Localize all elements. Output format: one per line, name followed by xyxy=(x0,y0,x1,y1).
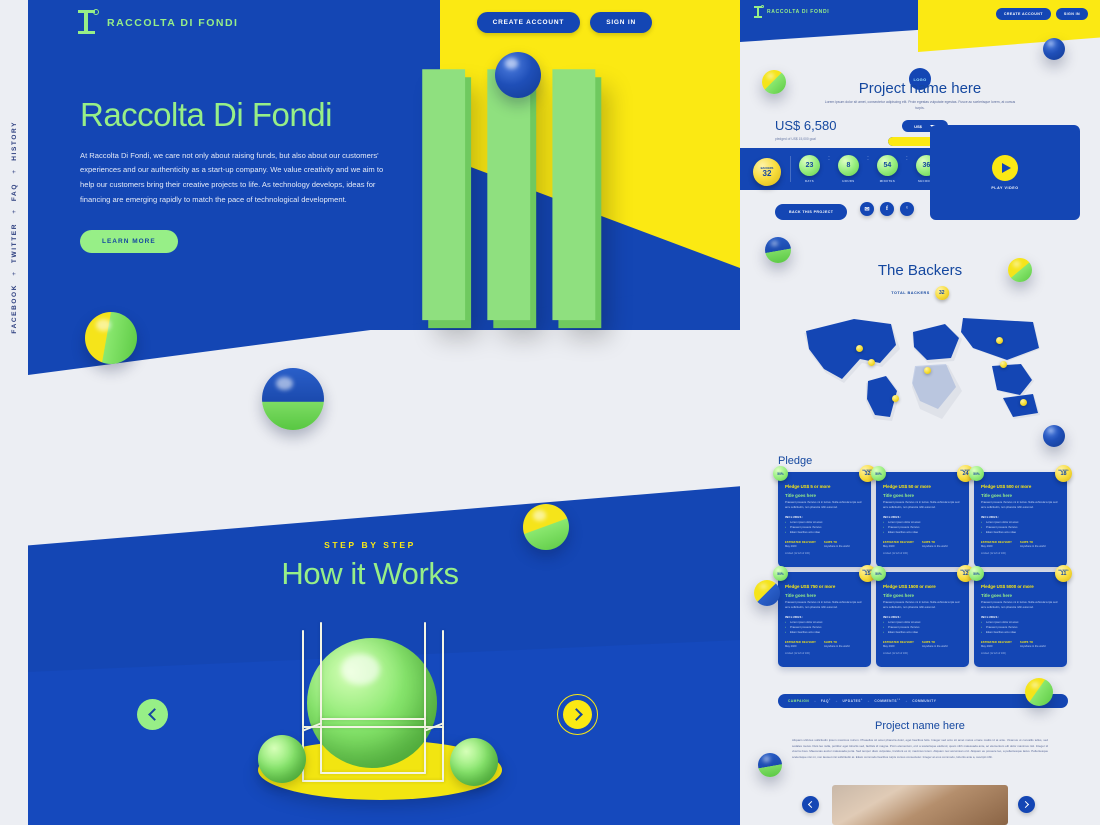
funding-progress-fill xyxy=(888,137,936,146)
social-rail: HISTORY + FAQ + TWITTER + FACEBOOK xyxy=(0,0,28,825)
pledge-delivery-label: ESTIMATED DELIVERY xyxy=(981,641,1012,644)
pledge-title: Title goes here xyxy=(883,593,962,598)
pledge-discount-badge: 50% xyxy=(969,566,984,581)
pledge-includes-label: INCLUDES: xyxy=(981,615,1060,619)
pledge-card[interactable]: 50% BACKERS 11 Pledge US$ 5000 or more T… xyxy=(974,572,1067,667)
chevron-left-icon xyxy=(148,708,161,721)
carousel-prev-button[interactable] xyxy=(137,699,168,730)
pledge-limited-note: Limited (12 left of 100) xyxy=(981,552,1060,555)
pledge-ships-value: Anywhere in the world xyxy=(1020,645,1046,648)
footer-next-button[interactable] xyxy=(1018,796,1035,813)
pledge-ships-label: SHIPS TO xyxy=(922,541,948,544)
pledge-discount-badge: 50% xyxy=(871,566,886,581)
rp-site-logo[interactable]: RACCOLTA DI FONDI xyxy=(754,5,829,19)
rp-header-nav: CREATE ACCOUNT SIGN IN xyxy=(996,8,1088,20)
pledge-bullet: Etiam faucibus arcu vitae xyxy=(883,531,962,536)
pledge-amount: Pledge US$ 5 or more xyxy=(785,484,864,489)
countdown-colon-1: : xyxy=(828,155,830,162)
footer-prev-button[interactable] xyxy=(802,796,819,813)
pledge-limited-note: Limited (12 left of 100) xyxy=(785,652,864,655)
chevron-left-icon xyxy=(808,801,815,808)
map-pin xyxy=(1000,361,1007,368)
pledge-discount-badge: 50% xyxy=(871,466,886,481)
pledge-delivery-label: ESTIMATED DELIVERY xyxy=(883,641,914,644)
pledge-ships-label: SHIPS TO xyxy=(824,641,850,644)
pledge-ships-value: Anywhere in the world xyxy=(824,645,850,648)
pledge-bullet: Etiam faucibus arcu vitae xyxy=(981,531,1060,536)
pledge-delivery-value: May 2020 xyxy=(785,645,816,648)
countdown-colon-3: : xyxy=(906,155,908,162)
pledge-backers-badge: BACKERS 11 xyxy=(1055,565,1072,582)
backers-badge: BACKERS 32 xyxy=(753,158,781,186)
pledge-title: Title goes here xyxy=(883,493,962,498)
map-pin xyxy=(868,359,875,366)
rp-decor-sphere-3 xyxy=(765,237,791,263)
rp-decor-sphere-5 xyxy=(1043,425,1065,447)
rail-separator-1: + xyxy=(11,167,18,177)
site-logo[interactable]: RACCOLTA DI FONDI xyxy=(78,8,238,38)
footer-nav-separator: + xyxy=(868,699,870,703)
pledge-amount: Pledge US$ 750 or more xyxy=(785,584,864,589)
rail-item-twitter[interactable]: TWITTER xyxy=(11,217,18,269)
countdown-hours-label: HOURS xyxy=(832,179,865,183)
pledge-ships-value: Anywhere in the world xyxy=(922,545,948,548)
pledge-delivery-label: ESTIMATED DELIVERY xyxy=(785,641,816,644)
countdown-hours-value: 8 xyxy=(838,155,859,176)
pledge-section-heading: Pledge xyxy=(778,455,812,467)
landing-page-mockup: Ⅲ RACCOLTA DI FONDI CREATE ACCOUNT SIGN … xyxy=(0,0,1100,825)
pledge-delivery-value: May 2020 xyxy=(981,545,1012,548)
pledge-backers-value: 32 xyxy=(864,472,870,478)
countdown-minutes: 54 MINUTES xyxy=(871,155,904,183)
pledge-title: Title goes here xyxy=(981,493,1060,498)
decor-sphere-blue-top xyxy=(495,52,541,98)
header-nav-buttons: CREATE ACCOUNT SIGN IN xyxy=(477,12,652,33)
how-it-works-section: STEP BY STEP How it Works xyxy=(0,540,740,592)
share-socials: ✉ f ᵗ xyxy=(860,202,914,216)
rp-decor-sphere-1 xyxy=(762,70,786,94)
project-video-player[interactable]: PLAY VIDEO xyxy=(930,125,1080,220)
pledge-includes-label: INCLUDES: xyxy=(883,515,962,519)
pledge-discount-badge: 50% xyxy=(773,566,788,581)
rail-item-history[interactable]: HISTORY xyxy=(11,115,18,167)
pledge-bullet: Etiam faucibus arcu vitae xyxy=(883,631,962,636)
countdown-days-label: DAYS xyxy=(793,179,826,183)
how-it-works-title: How it Works xyxy=(0,556,740,592)
pledge-limited-note: Limited (12 left of 100) xyxy=(981,652,1060,655)
pledge-ships-label: SHIPS TO xyxy=(1020,541,1046,544)
rp-decor-sphere-6 xyxy=(754,580,780,606)
footer-nav-item-comments[interactable]: COMMENTS18 xyxy=(874,699,900,703)
play-icon xyxy=(1002,163,1011,173)
footer-nav-separator: + xyxy=(836,699,838,703)
rp-decor-sphere-8 xyxy=(758,753,782,777)
world-map-icon xyxy=(796,305,1046,425)
pledge-meta-row: ESTIMATED DELIVERY May 2020 SHIPS TO Any… xyxy=(785,541,864,548)
pledge-description: Praesent posuere rhoncus mi in luctus. N… xyxy=(883,601,962,610)
backers-section-title: The Backers xyxy=(740,262,1100,279)
pledge-limited-note: Limited (12 left of 100) xyxy=(883,552,962,555)
facebook-icon[interactable]: f xyxy=(880,202,894,216)
footer-nav-count: 2 xyxy=(829,699,831,701)
pledge-backers-value: 11 xyxy=(1061,572,1067,578)
decor-sphere-green-yellow xyxy=(85,312,137,364)
pledge-amount: Pledge US$ 50 or more xyxy=(883,484,962,489)
pledge-discount-badge: 50% xyxy=(773,466,788,481)
rp-decor-sphere-7 xyxy=(1025,678,1053,706)
pledge-ships-value: Anywhere in the world xyxy=(922,645,948,648)
pledge-description: Praesent posuere rhoncus mi in luctus. N… xyxy=(981,601,1060,610)
pledge-delivery-value: May 2020 xyxy=(785,545,816,548)
total-backers-label: TOTAL BACKERS xyxy=(891,291,930,295)
backers-world-map xyxy=(796,305,1046,425)
scene-wireframe-cage xyxy=(302,630,444,782)
hero-content: Raccolta Di Fondi At Raccolta Di Fondi, … xyxy=(80,98,390,253)
pledge-includes-label: INCLUDES: xyxy=(785,615,864,619)
pledge-ships-label: SHIPS TO xyxy=(922,641,948,644)
column-logo-icon xyxy=(754,5,764,19)
currency-value: US$ xyxy=(914,124,922,129)
rp-decor-sphere-4 xyxy=(1008,258,1032,282)
pledge-delivery-value: May 2020 xyxy=(883,645,914,648)
rp-logo-wordmark: RACCOLTA DI FONDI xyxy=(767,9,829,15)
pledge-amount: Pledge US$ 500 or more xyxy=(981,484,1060,489)
countdown-minutes-label: MINUTES xyxy=(871,179,904,183)
play-video-label: PLAY VIDEO xyxy=(991,186,1018,190)
learn-more-button[interactable]: LEARN MORE xyxy=(80,230,178,253)
pledge-title: Title goes here xyxy=(785,593,864,598)
pledge-ships-value: Anywhere in the world xyxy=(1020,545,1046,548)
pledge-delivery-label: ESTIMATED DELIVERY xyxy=(981,541,1012,544)
rail-item-faq[interactable]: FAQ xyxy=(11,177,18,207)
pledge-card[interactable]: 50% BACKERS 18 Pledge US$ 500 or more Ti… xyxy=(974,472,1067,567)
pledge-meta-row: ESTIMATED DELIVERY May 2020 SHIPS TO Any… xyxy=(981,541,1060,548)
pledged-goal-text: pledged of US$ 15,000 goal xyxy=(775,137,816,141)
footer-nav-item-updates[interactable]: UPDATES4 xyxy=(842,699,862,703)
twitter-icon[interactable]: ᵗ xyxy=(900,202,914,216)
pledge-meta-row: ESTIMATED DELIVERY May 2020 SHIPS TO Any… xyxy=(785,641,864,648)
rp-decor-sphere-2 xyxy=(1043,38,1065,60)
pledge-backers-value: 18 xyxy=(1060,472,1066,478)
how-it-works-3d-scene xyxy=(250,630,510,805)
countdown-days: 23 DAYS xyxy=(793,155,826,183)
back-this-project-button[interactable]: BACK THIS PROJECT xyxy=(775,204,847,220)
pledge-discount-badge: 50% xyxy=(969,466,984,481)
play-button[interactable] xyxy=(992,155,1018,181)
rail-item-facebook[interactable]: FACEBOOK xyxy=(11,278,18,340)
pledge-bullet: Etiam faucibus arcu vitae xyxy=(981,631,1060,636)
footer-nav-separator: + xyxy=(905,699,907,703)
countdown-minutes-value: 54 xyxy=(877,155,898,176)
pledge-card[interactable]: 50% BACKERS 15 Pledge US$ 750 or more Ti… xyxy=(778,572,871,667)
rail-separator-2: + xyxy=(11,207,18,217)
how-it-works-eyebrow: STEP BY STEP xyxy=(0,540,740,550)
total-backers-row: TOTAL BACKERS 32 xyxy=(891,286,949,300)
chevron-right-icon xyxy=(1022,801,1029,808)
pledge-card[interactable]: 50% BACKERS 32 Pledge US$ 5 or more Titl… xyxy=(778,472,871,567)
pledge-card[interactable]: 50% BACKERS 24 Pledge US$ 50 or more Tit… xyxy=(876,472,969,567)
pledge-ships-label: SHIPS TO xyxy=(1020,641,1046,644)
stats-divider xyxy=(790,156,791,182)
pledge-meta-row: ESTIMATED DELIVERY May 2020 SHIPS TO Any… xyxy=(883,641,962,648)
countdown-hours: 8 HOURS xyxy=(832,155,865,183)
project-title: Project name here xyxy=(740,80,1100,97)
pledge-description: Praesent posuere rhoncus mi in luctus. N… xyxy=(883,501,962,510)
pledge-title: Title goes here xyxy=(981,593,1060,598)
hero-description: At Raccolta Di Fondi, we care not only a… xyxy=(80,149,390,208)
pledged-amount: US$ 6,580 xyxy=(775,118,836,133)
map-pin xyxy=(856,345,863,352)
pledge-backers-value: 24 xyxy=(962,472,968,478)
pledge-includes-label: INCLUDES: xyxy=(883,615,962,619)
pledge-bullet: Etiam faucibus arcu vitae xyxy=(785,631,864,636)
footer-project-body: Aliquam ultricies sollicitudin ipsum max… xyxy=(792,738,1048,761)
pledge-meta-row: ESTIMATED DELIVERY May 2020 SHIPS TO Any… xyxy=(883,541,962,548)
sign-in-button[interactable]: SIGN IN xyxy=(590,12,652,33)
footer-nav-count: 18 xyxy=(897,699,900,701)
backers-badge-value: 32 xyxy=(763,170,772,178)
pledge-description: Praesent posuere rhoncus mi in luctus. N… xyxy=(981,501,1060,510)
rp-create-account-button[interactable]: CREATE ACCOUNT xyxy=(996,8,1051,20)
pledge-delivery-label: ESTIMATED DELIVERY xyxy=(785,541,816,544)
column-logo-icon xyxy=(78,8,100,38)
map-pin xyxy=(1020,399,1027,406)
footer-project-title: Project name here xyxy=(740,720,1100,732)
scene-small-sphere-right xyxy=(450,738,498,786)
pledge-title: Title goes here xyxy=(785,493,864,498)
scene-small-sphere-left xyxy=(258,735,306,783)
pledge-delivery-value: May 2020 xyxy=(883,545,914,548)
footer-project-photo xyxy=(832,785,1008,825)
pledge-card-grid: 50% BACKERS 32 Pledge US$ 5 or more Titl… xyxy=(778,472,1068,667)
logo-wordmark: RACCOLTA DI FONDI xyxy=(107,17,238,29)
pledge-description: Praesent posuere rhoncus mi in luctus. N… xyxy=(785,601,864,610)
project-footer-nav: CAMPAIGN + FAQ2 + UPDATES4 + COMMENTS18 … xyxy=(778,694,1068,708)
pledge-delivery-label: ESTIMATED DELIVERY xyxy=(883,541,914,544)
chevron-right-icon xyxy=(570,708,583,721)
map-pin xyxy=(924,367,931,374)
pledge-includes-label: INCLUDES: xyxy=(785,515,864,519)
total-backers-value: 32 xyxy=(935,286,949,300)
decor-sphere-blue-green xyxy=(262,368,324,430)
countdown-days-value: 23 xyxy=(799,155,820,176)
rail-separator-3: + xyxy=(11,269,18,279)
create-account-button[interactable]: CREATE ACCOUNT xyxy=(477,12,581,33)
pledge-ships-label: SHIPS TO xyxy=(824,541,850,544)
rp-sign-in-button[interactable]: SIGN IN xyxy=(1056,8,1088,20)
pledge-backers-value: 15 xyxy=(864,572,870,578)
pledge-delivery-value: May 2020 xyxy=(981,645,1012,648)
pledge-amount: Pledge US$ 1500 or more xyxy=(883,584,962,589)
pledge-ships-value: Anywhere in the world xyxy=(824,545,850,548)
map-pin xyxy=(996,337,1003,344)
project-detail-panel: RACCOLTA DI FONDI CREATE ACCOUNT SIGN IN… xyxy=(740,0,1100,825)
footer-nav-count: 4 xyxy=(861,699,863,701)
carousel-next-button[interactable] xyxy=(557,694,598,735)
desktop-hero-panel: Ⅲ RACCOLTA DI FONDI CREATE ACCOUNT SIGN … xyxy=(0,0,740,825)
pledge-bullet: Etiam faucibus arcu vitae xyxy=(785,531,864,536)
pledge-limited-note: Limited (12 left of 100) xyxy=(883,652,962,655)
footer-nav-item-faq[interactable]: FAQ2 xyxy=(821,699,831,703)
map-pin xyxy=(892,395,899,402)
pledge-backers-value: 12 xyxy=(962,572,968,578)
hero-title: Raccolta Di Fondi xyxy=(80,98,390,133)
project-subtitle: Lorem ipsum dolor sit amet, consectetur … xyxy=(822,99,1018,112)
email-icon[interactable]: ✉ xyxy=(860,202,874,216)
pledge-description: Praesent posuere rhoncus mi in luctus. N… xyxy=(785,501,864,510)
footer-nav-separator: + xyxy=(814,699,816,703)
pledge-backers-badge: BACKERS 18 xyxy=(1055,465,1072,482)
pledge-includes-label: INCLUDES: xyxy=(981,515,1060,519)
countdown-colon-2: : xyxy=(867,155,869,162)
pledge-limited-note: Limited (12 left of 100) xyxy=(785,552,864,555)
pledge-meta-row: ESTIMATED DELIVERY May 2020 SHIPS TO Any… xyxy=(981,641,1060,648)
footer-nav-item-campaign[interactable]: CAMPAIGN xyxy=(788,699,809,703)
pledge-amount: Pledge US$ 5000 or more xyxy=(981,584,1060,589)
pledge-card[interactable]: 50% BACKERS 12 Pledge US$ 1500 or more T… xyxy=(876,572,969,667)
footer-nav-item-community[interactable]: COMMUNITY xyxy=(912,699,936,703)
